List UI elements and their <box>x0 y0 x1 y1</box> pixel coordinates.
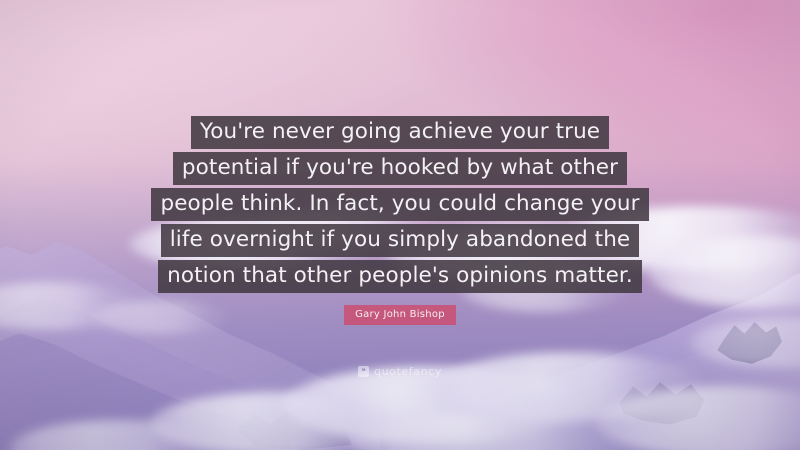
watermark: ❝ quotefancy <box>0 365 800 378</box>
quote-line: life overnight if you simply abandoned t… <box>161 224 640 257</box>
quote-line: people think. In fact, you could change … <box>151 188 648 221</box>
watermark-brand-text: quotefancy <box>374 365 442 378</box>
quote-text-block: You're never going achieve your true pot… <box>0 116 800 293</box>
quote-line: notion that other people's opinions matt… <box>158 260 642 293</box>
quote-line: potential if you're hooked by what other <box>173 152 627 185</box>
quote-mark-icon: ❝ <box>358 366 369 377</box>
author-name-badge: Gary John Bishop <box>344 305 456 325</box>
quote-line: You're never going achieve your true <box>191 116 609 149</box>
author-attribution: Gary John Bishop <box>0 305 800 325</box>
quote-wallpaper: You're never going achieve your true pot… <box>0 0 800 450</box>
